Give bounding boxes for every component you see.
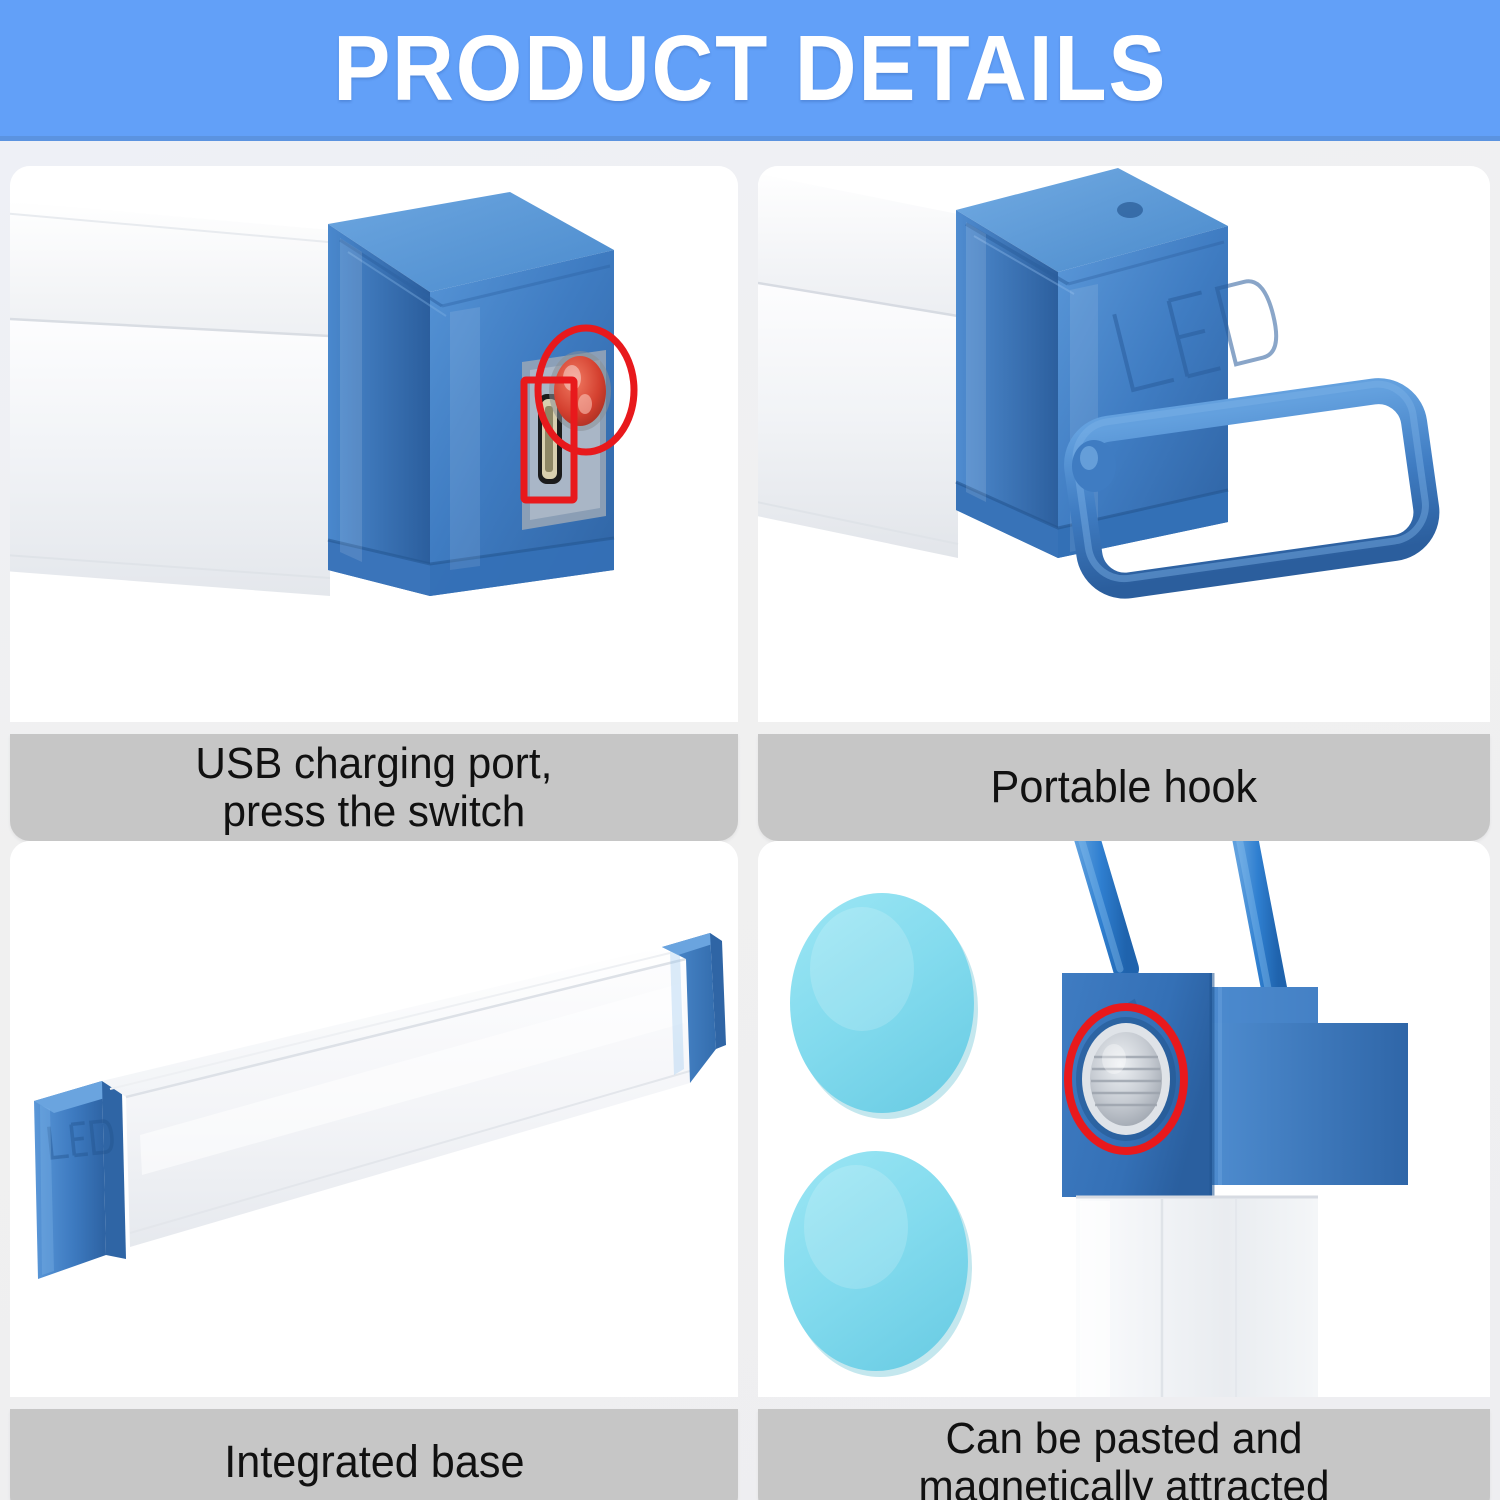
diffuser-front-face — [758, 278, 958, 558]
caption-label-portable-hook: Portable hook — [977, 763, 1270, 812]
header-banner: PRODUCT DETAILS — [0, 0, 1500, 136]
caption-label-integrated-base: Integrated base — [210, 1438, 537, 1487]
product-photo-magnetic-mount — [758, 841, 1490, 1397]
integrated-base-illustration — [10, 841, 738, 1397]
caption-bar-usb-charging-port: USB charging port, press the switch — [10, 734, 738, 841]
caption-label-magnetic-mount: Can be pasted and magnetically attracted — [905, 1415, 1343, 1500]
portable-hook-illustration — [758, 166, 1490, 722]
product-photo-portable-hook — [758, 166, 1490, 722]
detail-panel-usb-charging-port: USB charging port, press the switch — [10, 166, 738, 841]
product-details-infographic: PRODUCT DETAILS — [0, 0, 1500, 1500]
product-photo-usb-charging-port — [10, 166, 738, 722]
panel-grid: USB charging port, press the switch — [0, 141, 1500, 1500]
caption-bar-integrated-base: Integrated base — [10, 1409, 738, 1500]
page-title: PRODUCT DETAILS — [333, 22, 1167, 115]
end-cap-left — [34, 1081, 128, 1283]
hook-pivot-hole — [1117, 202, 1143, 218]
magnetic-mount-illustration — [758, 841, 1490, 1397]
diffuser-front-face — [10, 318, 330, 596]
detail-panel-magnetic-mount: Can be pasted and magnetically attracted — [758, 841, 1490, 1500]
caption-label-usb-charging-port: USB charging port, press the switch — [182, 740, 566, 835]
product-photo-integrated-base — [10, 841, 738, 1397]
caption-bar-magnetic-mount: Can be pasted and magnetically attracted — [758, 1409, 1490, 1500]
caption-bar-portable-hook: Portable hook — [758, 734, 1490, 841]
magnet — [1076, 1017, 1176, 1141]
power-switch — [549, 351, 611, 431]
usb-port-illustration — [10, 166, 738, 722]
detail-panel-portable-hook: Portable hook — [758, 166, 1490, 841]
diffuser-body — [1076, 1197, 1318, 1397]
detail-panel-integrated-base: Integrated base — [10, 841, 738, 1500]
